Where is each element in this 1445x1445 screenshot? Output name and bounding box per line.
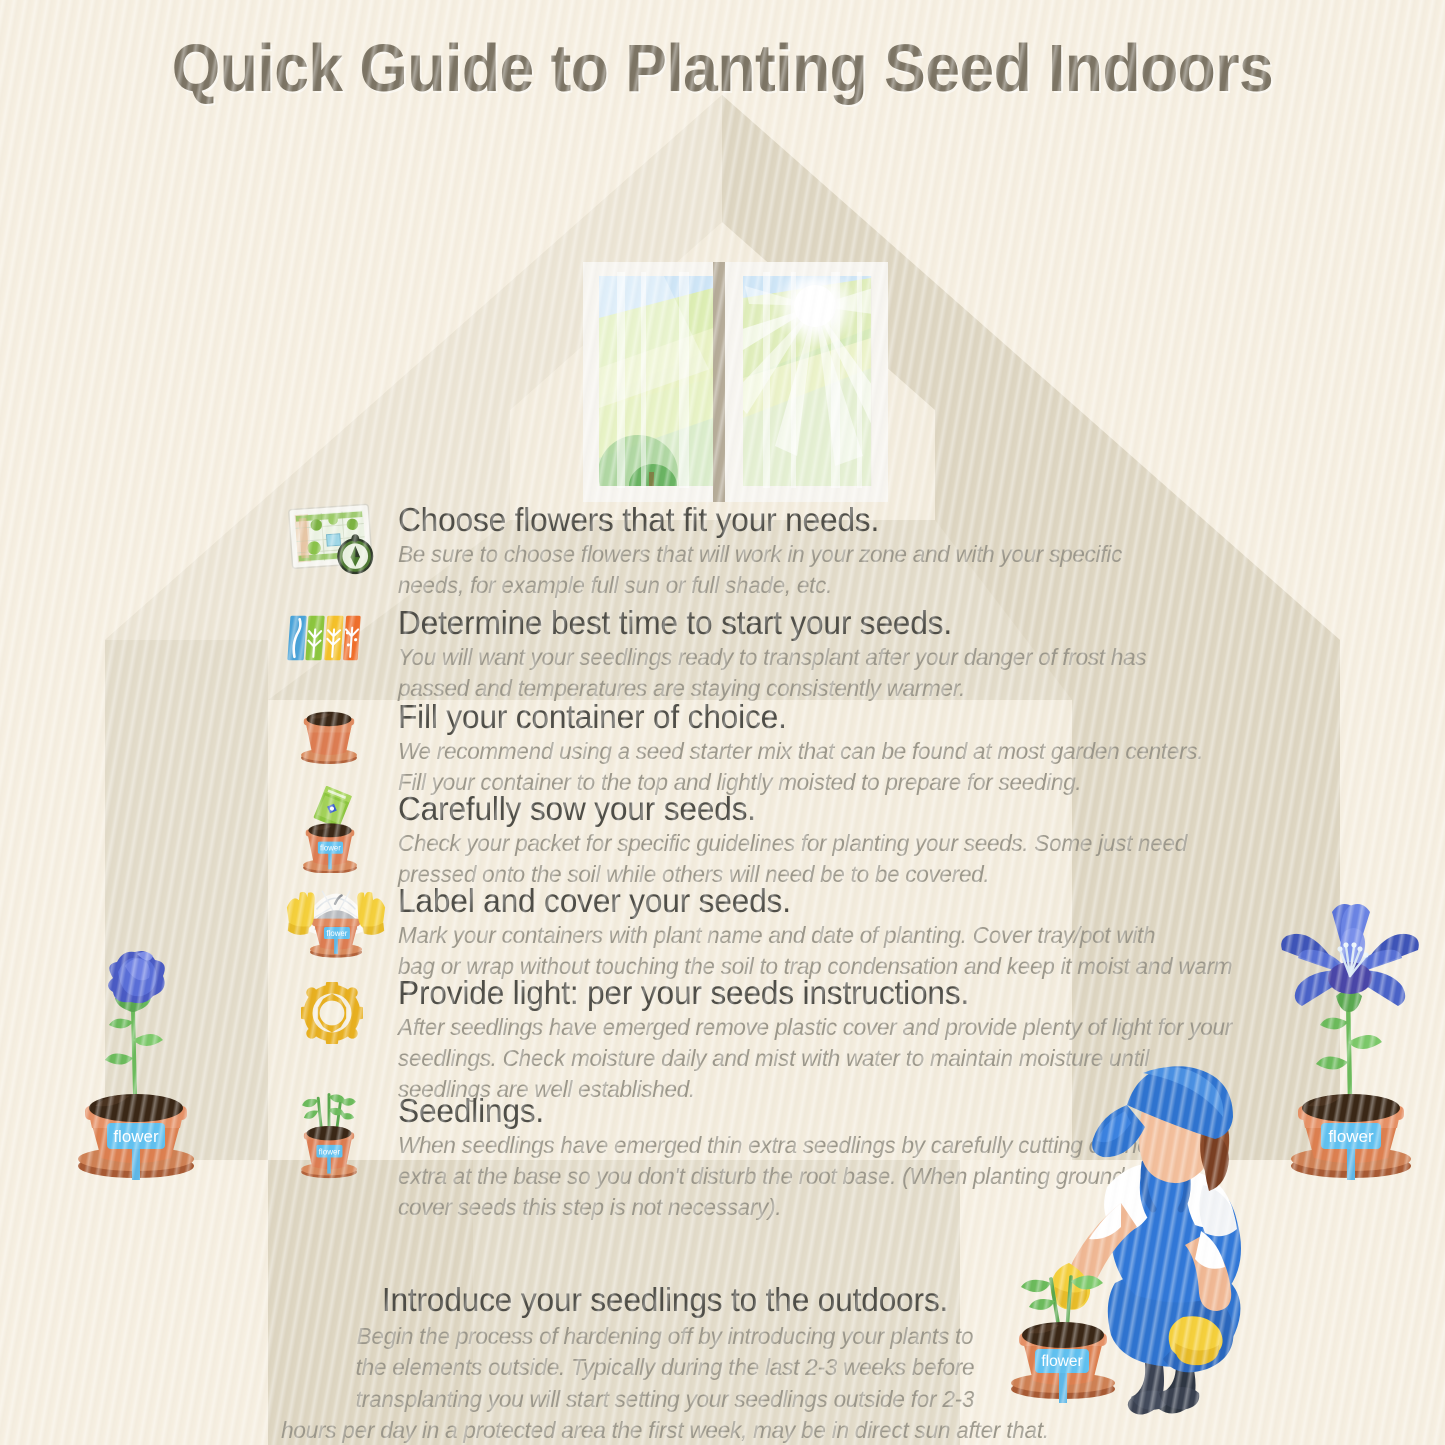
step-item: flower Carefully sow your seeds. Check y… (285, 792, 1215, 884)
pot-label-text: flower (320, 844, 341, 853)
garden-plan-compass-icon (285, 503, 390, 582)
step-heading: Label and cover your seeds. (398, 884, 1182, 918)
step-item: Choose flowers that fit your needs. Be s… (285, 503, 1215, 606)
infographic-poster: Quick Guide to Planting Seed Indoors (0, 0, 1445, 1445)
step-description: You will want your seedlings ready to tr… (398, 642, 1178, 705)
filled-pot-icon (293, 700, 398, 770)
window-pane-left (598, 274, 713, 508)
pot-label-text: flower (1041, 1353, 1082, 1370)
step-item: flower Label and cover your seeds. (285, 884, 1215, 976)
step-description: Be sure to choose flowers that will work… (398, 539, 1178, 602)
pot-label-text: flower (319, 1147, 341, 1156)
potted-blue-bud-flower: flower (63, 918, 213, 1180)
step-heading: Provide light: per your seeds instructio… (398, 976, 1182, 1010)
step-item: Determine best time to start your seeds.… (285, 606, 1215, 700)
seedlings-pot-icon: flower (293, 1082, 398, 1184)
window-pane-right (720, 264, 888, 486)
gloves-covering-pot-icon: flower (285, 876, 390, 970)
step-heading: Choose flowers that fit your needs. (398, 503, 1182, 537)
step-heading: Carefully sow your seeds. (398, 792, 1182, 826)
sunny-window-icon (583, 258, 888, 508)
step-heading: Fill your container of choice. (398, 700, 1182, 734)
sun-light-ring-icon (301, 982, 406, 1049)
page-title: Quick Guide to Planting Seed Indoors (51, 30, 1395, 107)
seed-packet-pouring-icon: flower (291, 786, 396, 878)
step-item: Fill your container of choice. We recomm… (285, 700, 1215, 792)
sun-disc (794, 285, 836, 327)
step-heading: Determine best time to start your seeds. (398, 606, 1182, 640)
pot-label-text: flower (113, 1127, 159, 1146)
kneeling-gardener-illustration: flower (995, 1035, 1345, 1440)
lily-petals (1281, 904, 1419, 1006)
window-center-mullion (713, 262, 725, 502)
pot-label-text: flower (326, 929, 347, 938)
four-seasons-icon (285, 614, 390, 667)
